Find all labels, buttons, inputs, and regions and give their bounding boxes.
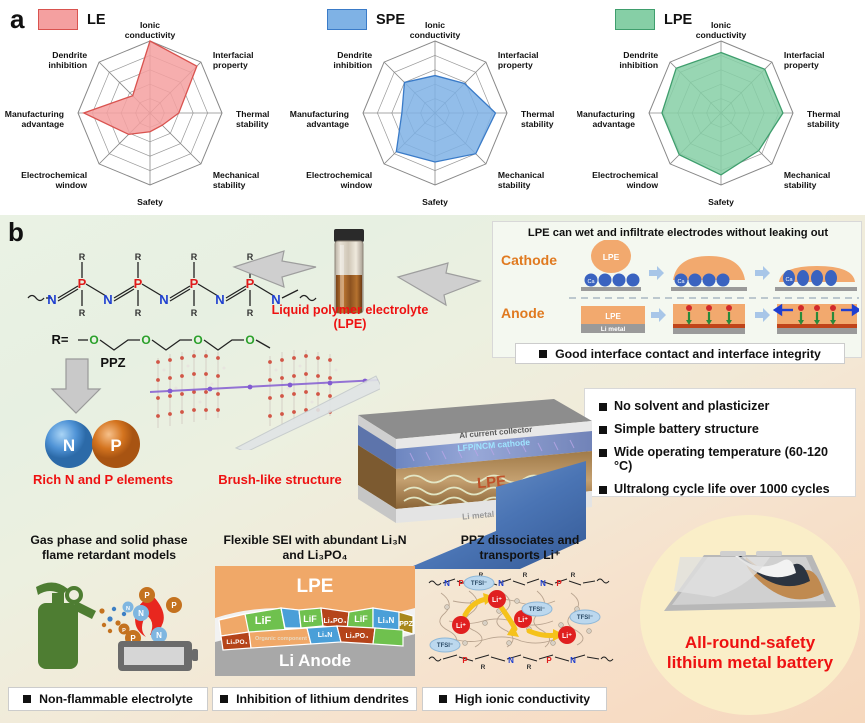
svg-text:P: P bbox=[546, 656, 552, 665]
svg-text:N: N bbox=[156, 631, 162, 640]
bullet-icon bbox=[220, 695, 228, 703]
arrow-to-vial bbox=[232, 245, 318, 293]
arrow-to-wetting-panel bbox=[396, 261, 482, 309]
radar-svg-le: IonicconductivityInterfacialpropertyTher… bbox=[0, 0, 288, 215]
svg-text:N: N bbox=[215, 292, 224, 307]
svg-text:R: R bbox=[191, 252, 198, 262]
svg-text:P: P bbox=[462, 656, 468, 665]
svg-text:R: R bbox=[79, 308, 86, 318]
svg-text:Mechanicalstability: Mechanicalstability bbox=[498, 170, 544, 190]
r-equals-label: R= bbox=[52, 332, 69, 347]
flame-title: Gas phase and solid phase flame retardan… bbox=[14, 533, 204, 562]
svg-text:Dendriteinhibition: Dendriteinhibition bbox=[333, 50, 372, 70]
radar-chart-le: LE IonicconductivityInterfacialpropertyT… bbox=[0, 0, 288, 215]
svg-text:Thermalstability: Thermalstability bbox=[807, 109, 840, 129]
flame-retardant-panel: Gas phase and solid phase flame retardan… bbox=[14, 533, 204, 678]
svg-text:Ionicconductivity: Ionicconductivity bbox=[410, 20, 461, 40]
svg-text:Interfacialproperty: Interfacialproperty bbox=[784, 50, 825, 70]
tfsi-label: TFSI⁻ bbox=[577, 615, 593, 621]
atom-label-p: P bbox=[78, 276, 87, 291]
svg-text:R: R bbox=[135, 252, 142, 262]
svg-text:Thermalstability: Thermalstability bbox=[236, 109, 269, 129]
svg-text:P: P bbox=[458, 579, 464, 588]
li-ion-label: Li⁺ bbox=[492, 597, 502, 604]
svg-text:R: R bbox=[481, 664, 486, 671]
svg-text:R: R bbox=[135, 308, 142, 318]
svg-text:Thermalstability: Thermalstability bbox=[521, 109, 554, 129]
sei-block-label: PPZ bbox=[399, 621, 413, 628]
radar-chart-spe: SPE IonicconductivityInterfacialproperty… bbox=[289, 0, 577, 215]
svg-text:Dendriteinhibition: Dendriteinhibition bbox=[619, 50, 658, 70]
label-rich-n-p: Rich N and P elements bbox=[8, 473, 198, 488]
tfsi-label: TFSI⁻ bbox=[437, 643, 453, 649]
tfsi-label: TFSI⁻ bbox=[529, 607, 545, 613]
svg-text:Manufacturingadvantage: Manufacturingadvantage bbox=[5, 109, 64, 129]
svg-text:N: N bbox=[540, 579, 546, 588]
atom-label-o: O bbox=[89, 333, 98, 347]
sei-structure-illustration: LPE Li Anode bbox=[215, 566, 415, 676]
panel-b-schematic: b bbox=[0, 215, 865, 723]
li-metal-label: Li metal bbox=[601, 326, 626, 333]
svg-text:N: N bbox=[570, 656, 576, 665]
conduction-panel: PPZ dissociates and transports Li⁺ N P N bbox=[425, 533, 615, 678]
conduction-caption-bar: High ionic conductivity bbox=[422, 687, 607, 711]
li-ion-label: Li⁺ bbox=[518, 617, 528, 624]
svg-text:Interfacialproperty: Interfacialproperty bbox=[498, 50, 539, 70]
wetting-title: LPE can wet and infiltrate electrodes wi… bbox=[493, 227, 863, 239]
svg-text:N: N bbox=[126, 606, 130, 612]
svg-text:N: N bbox=[508, 656, 514, 665]
wetting-diagram: LPE Ca Ca bbox=[569, 240, 859, 355]
li-ion-label: Li⁺ bbox=[456, 623, 466, 630]
svg-text:P: P bbox=[190, 276, 199, 291]
sei-block-label: Li₃N bbox=[318, 632, 333, 639]
sei-block-label: Li₃PO₄ bbox=[226, 639, 247, 646]
svg-text:N: N bbox=[103, 292, 112, 307]
svg-text:Manufacturingadvantage: Manufacturingadvantage bbox=[577, 109, 635, 129]
svg-text:Dendriteinhibition: Dendriteinhibition bbox=[48, 50, 87, 70]
svg-text:R: R bbox=[191, 308, 198, 318]
pouch-cell-photo bbox=[650, 533, 850, 643]
feature-item: Wide operating temperature (60-120 °C) bbox=[599, 445, 841, 473]
svg-text:N: N bbox=[138, 609, 144, 618]
svg-text:Mechanicalstability: Mechanicalstability bbox=[784, 170, 830, 190]
wetting-anode-label: Anode bbox=[501, 305, 545, 321]
flame-retardant-illustration: N P P P P N N bbox=[14, 567, 204, 675]
svg-text:Ca: Ca bbox=[677, 279, 685, 285]
svg-text:R: R bbox=[523, 572, 528, 579]
svg-text:N: N bbox=[63, 436, 75, 455]
svg-text:Mechanicalstability: Mechanicalstability bbox=[213, 170, 259, 190]
svg-text:Ionicconductivity: Ionicconductivity bbox=[125, 20, 176, 40]
panel-a-radar-charts: a LE IonicconductivityInterfacialpropert… bbox=[0, 0, 865, 215]
svg-text:Interfacialproperty: Interfacialproperty bbox=[213, 50, 254, 70]
svg-text:Electrochemicalwindow: Electrochemicalwindow bbox=[306, 170, 372, 190]
radar-svg-spe: IonicconductivityInterfacialpropertyTher… bbox=[289, 0, 577, 215]
svg-text:P: P bbox=[171, 601, 177, 610]
svg-text:N: N bbox=[444, 579, 450, 588]
sei-caption-bar: Inhibition of lithium dendrites bbox=[212, 687, 417, 711]
sei-block-label: LiF bbox=[303, 614, 317, 624]
flame-caption-bar: Non-flammable electrolyte bbox=[8, 687, 208, 711]
svg-text:N: N bbox=[498, 579, 504, 588]
svg-text:Electrochemicalwindow: Electrochemicalwindow bbox=[21, 170, 87, 190]
sei-title: Flexible SEI with abundant Li₃N and Li₃P… bbox=[215, 533, 415, 562]
bullet-icon bbox=[539, 350, 547, 358]
radar-svg-lpe: IonicconductivityInterfacialpropertyTher… bbox=[577, 0, 865, 215]
sei-block-label: Li₃N bbox=[378, 616, 395, 625]
arrow-down-to-elements bbox=[46, 355, 116, 417]
li-transport-illustration: N P N N P R R R P N P N R R bbox=[425, 567, 615, 675]
svg-text:Electrochemicalwindow: Electrochemicalwindow bbox=[592, 170, 658, 190]
figure-root: a LE IonicconductivityInterfacialpropert… bbox=[0, 0, 865, 723]
bullet-icon bbox=[23, 695, 31, 703]
svg-text:N: N bbox=[159, 292, 168, 307]
feature-item: Simple battery structure bbox=[599, 422, 841, 436]
lpe-layer-label: LPE bbox=[605, 312, 621, 321]
svg-text:P: P bbox=[134, 276, 143, 291]
svg-text:Ca: Ca bbox=[785, 277, 793, 283]
final-result-label: All-round-safety lithium metal battery bbox=[640, 633, 860, 674]
feature-item: No solvent and plasticizer bbox=[599, 399, 841, 413]
svg-text:P: P bbox=[122, 628, 126, 634]
atom-label-n: N bbox=[47, 292, 56, 307]
svg-text:Safety: Safety bbox=[422, 197, 448, 207]
svg-text:R: R bbox=[527, 664, 532, 671]
svg-text:Safety: Safety bbox=[137, 197, 163, 207]
svg-text:R: R bbox=[79, 252, 86, 262]
sei-lpe-label: LPE bbox=[297, 576, 334, 597]
sei-block-label: LiF bbox=[354, 614, 368, 624]
sei-panel: Flexible SEI with abundant Li₃N and Li₃P… bbox=[215, 533, 415, 678]
svg-text:R: R bbox=[247, 308, 254, 318]
wetting-caption-bar: Good interface contact and interface int… bbox=[515, 343, 845, 364]
radar-chart-lpe: LPE IonicconductivityInterfacialproperty… bbox=[577, 0, 865, 215]
particle-label: Ca bbox=[587, 279, 595, 285]
sei-organic-label: Organic component bbox=[255, 636, 307, 642]
svg-text:R: R bbox=[571, 572, 576, 579]
lpe-drop-label: LPE bbox=[603, 252, 620, 262]
li-ion-label: Li⁺ bbox=[562, 633, 572, 640]
features-card: No solvent and plasticizer Simple batter… bbox=[584, 388, 856, 497]
sei-anode-label: Li Anode bbox=[279, 651, 351, 670]
svg-text:Ionicconductivity: Ionicconductivity bbox=[696, 20, 747, 40]
label-brush-structure: Brush-like structure bbox=[200, 473, 360, 488]
sei-block-label: Li₃PO₄ bbox=[346, 633, 369, 640]
feature-item: Ultralong cycle life over 1000 cycles bbox=[599, 482, 841, 496]
wetting-panel: LPE can wet and infiltrate electrodes wi… bbox=[492, 221, 862, 358]
svg-text:P: P bbox=[110, 436, 121, 455]
svg-text:Manufacturingadvantage: Manufacturingadvantage bbox=[290, 109, 349, 129]
sei-block-label: Li₃PO₄ bbox=[324, 618, 347, 625]
bullet-icon bbox=[439, 695, 447, 703]
tfsi-label: TFSI⁻ bbox=[471, 581, 487, 587]
svg-text:P: P bbox=[144, 591, 150, 600]
wetting-cathode-label: Cathode bbox=[501, 252, 557, 268]
svg-text:Safety: Safety bbox=[708, 197, 734, 207]
conduction-title: PPZ dissociates and transports Li⁺ bbox=[425, 533, 615, 562]
svg-text:P: P bbox=[556, 579, 562, 588]
sei-block-label: LiF bbox=[255, 615, 272, 627]
